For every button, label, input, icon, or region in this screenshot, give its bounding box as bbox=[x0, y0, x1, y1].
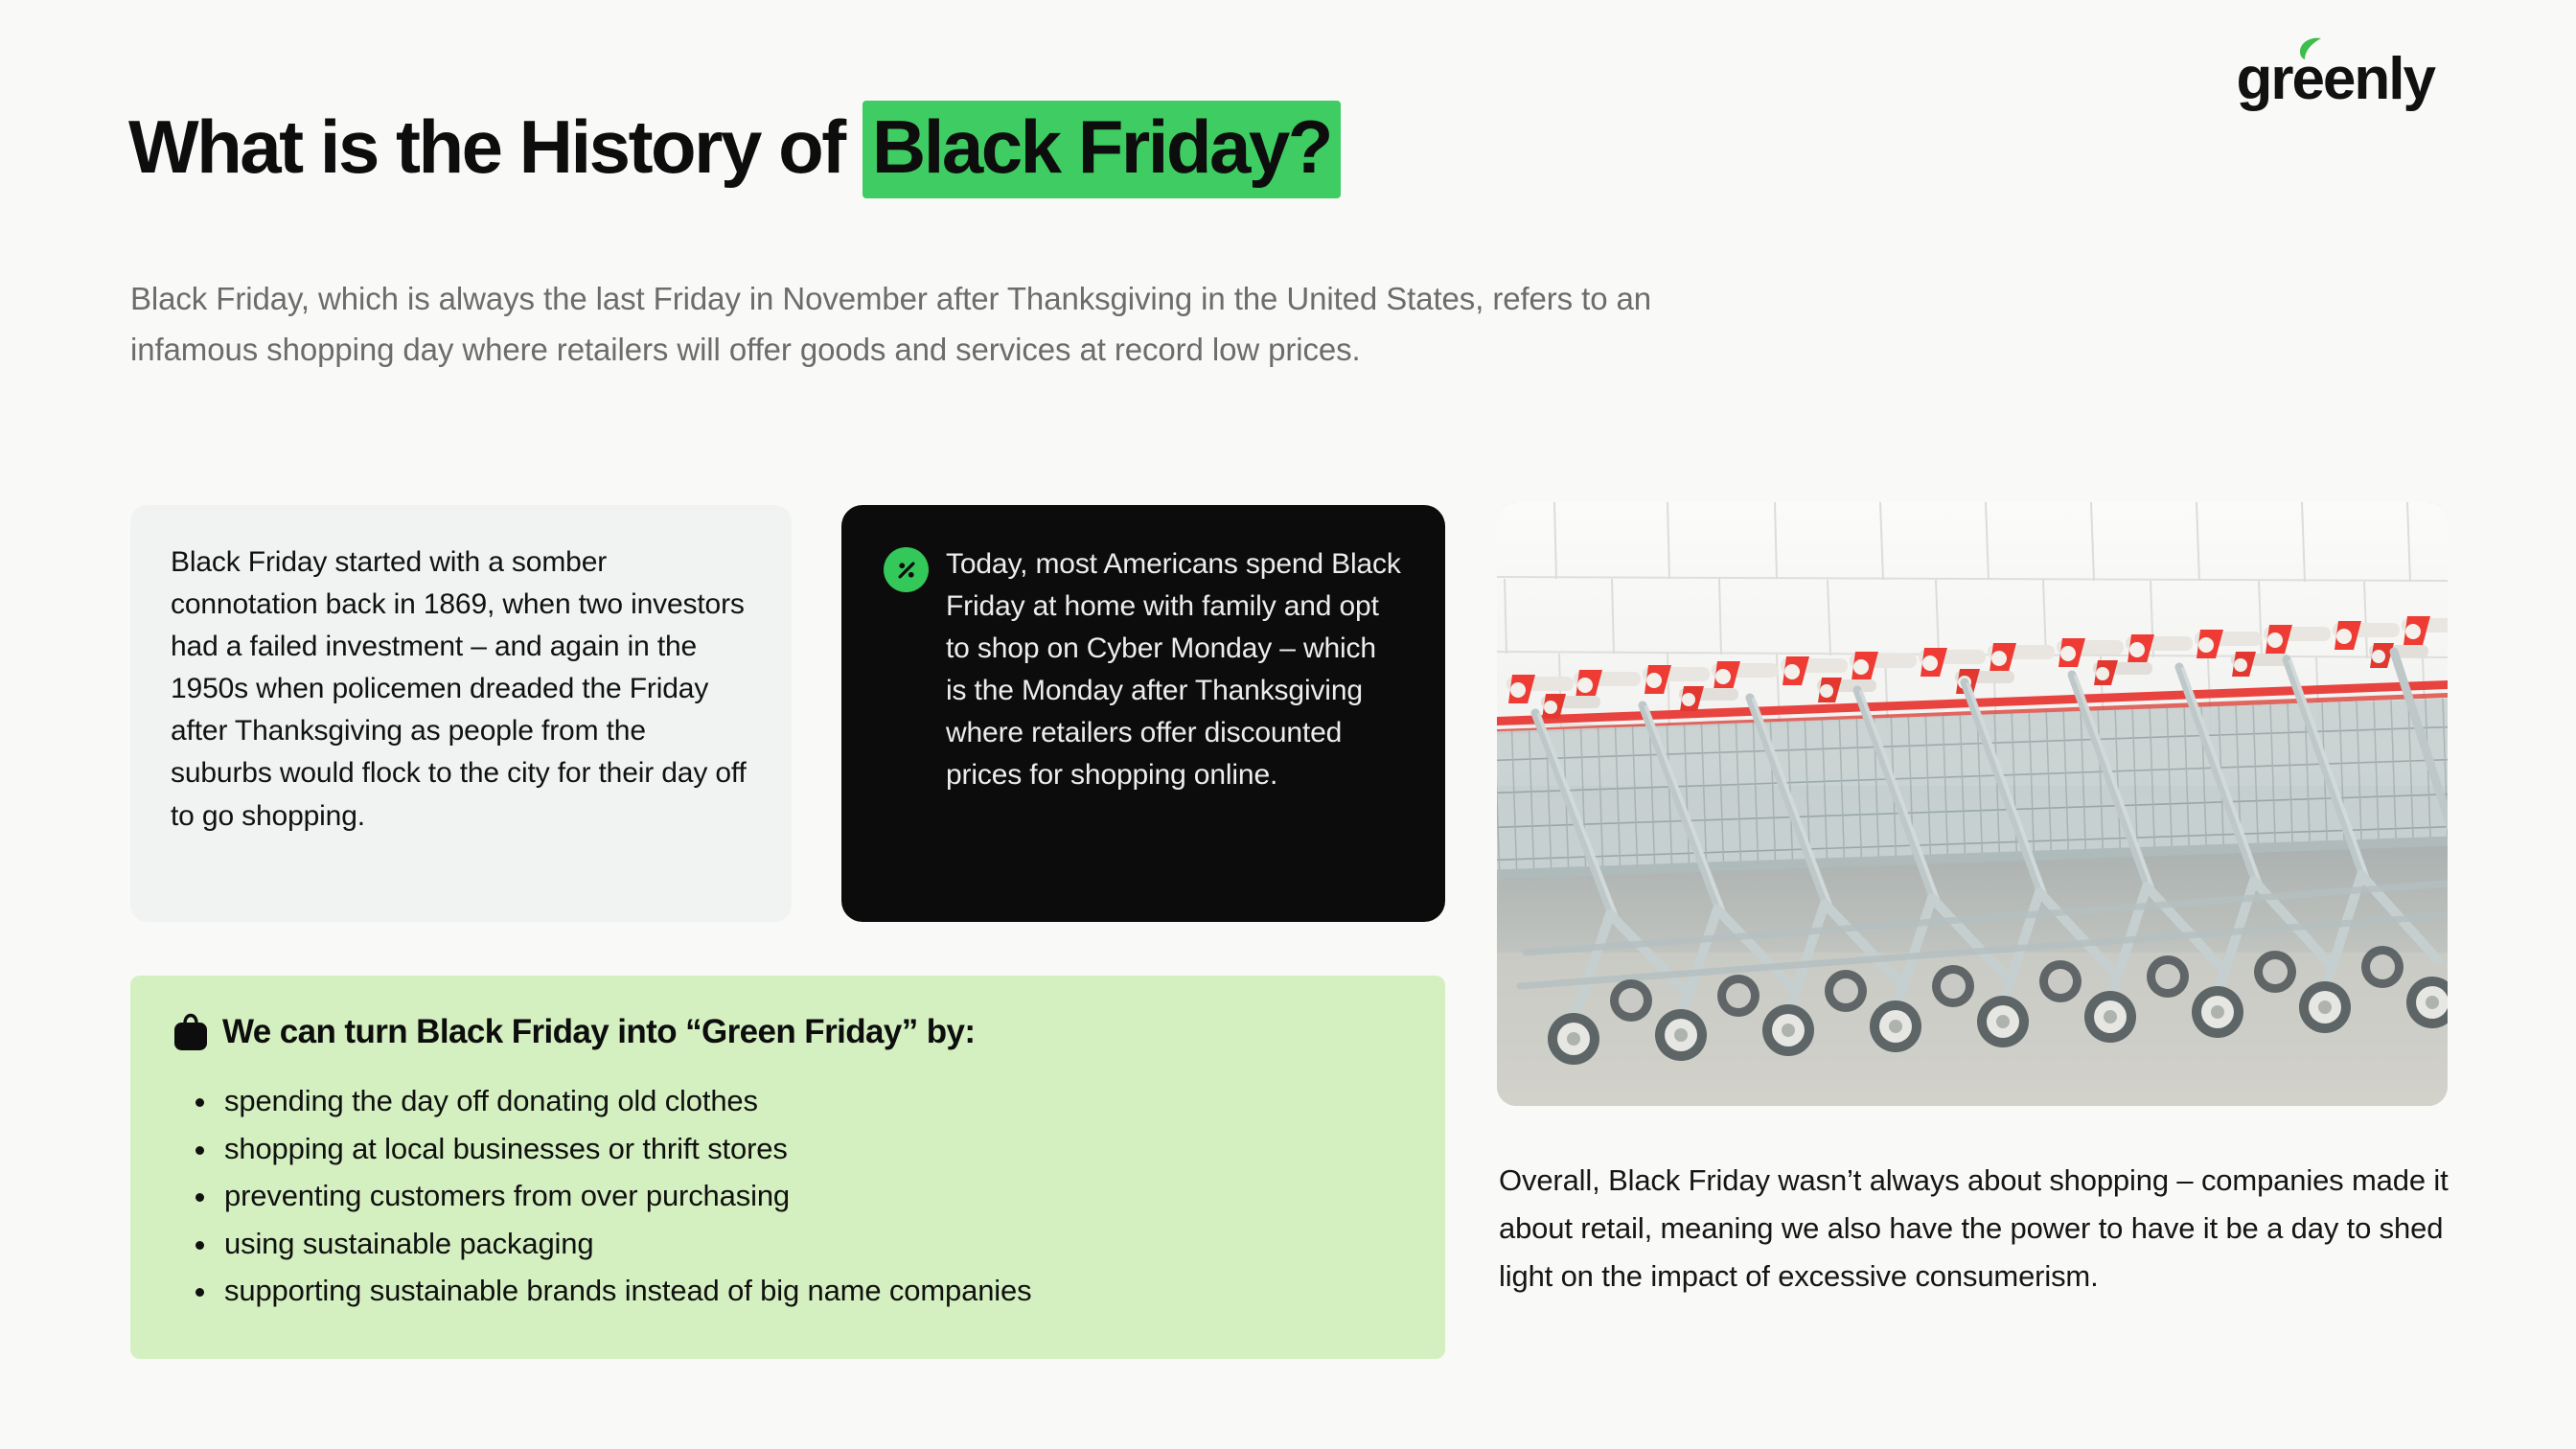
shopping-bag-icon bbox=[172, 1012, 209, 1052]
today-card-body: Today, most Americans spend Black Friday… bbox=[946, 543, 1403, 884]
list-item: preventing customers from over purchasin… bbox=[190, 1172, 1403, 1220]
title-highlight-part: Black Friday? bbox=[862, 101, 1341, 198]
page-subtitle: Black Friday, which is always the last F… bbox=[130, 273, 1750, 376]
title-plain-part: What is the History of bbox=[128, 104, 862, 189]
list-item: using sustainable packaging bbox=[190, 1220, 1403, 1268]
list-item: shopping at local businesses or thrift s… bbox=[190, 1125, 1403, 1173]
history-card-body: Black Friday started with a somber conno… bbox=[171, 541, 751, 838]
logo-wordmark: greenly bbox=[2236, 50, 2434, 109]
today-card: Today, most Americans spend Black Friday… bbox=[841, 505, 1445, 922]
leaf-icon bbox=[2296, 36, 2323, 61]
green-friday-heading-row: We can turn Black Friday into “Green Fri… bbox=[172, 1012, 1403, 1052]
photo-caption: Overall, Black Friday wasn’t always abou… bbox=[1499, 1157, 2457, 1301]
percent-icon bbox=[884, 547, 929, 592]
history-card: Black Friday started with a somber conno… bbox=[130, 505, 792, 922]
list-item: spending the day off donating old clothe… bbox=[190, 1077, 1403, 1125]
green-friday-heading: We can turn Black Friday into “Green Fri… bbox=[222, 1013, 975, 1051]
shopping-carts-photo bbox=[1497, 502, 2448, 1106]
page-title: What is the History of Black Friday? bbox=[128, 105, 1341, 189]
green-friday-card: We can turn Black Friday into “Green Fri… bbox=[130, 976, 1445, 1359]
slide-root: greenly What is the History of Black Fri… bbox=[0, 0, 2576, 1449]
list-item: supporting sustainable brands instead of… bbox=[190, 1267, 1403, 1315]
green-friday-list: spending the day off donating old clothe… bbox=[172, 1077, 1403, 1315]
greenly-logo: greenly bbox=[2236, 50, 2434, 117]
shopping-carts-illustration bbox=[1497, 502, 2448, 1106]
